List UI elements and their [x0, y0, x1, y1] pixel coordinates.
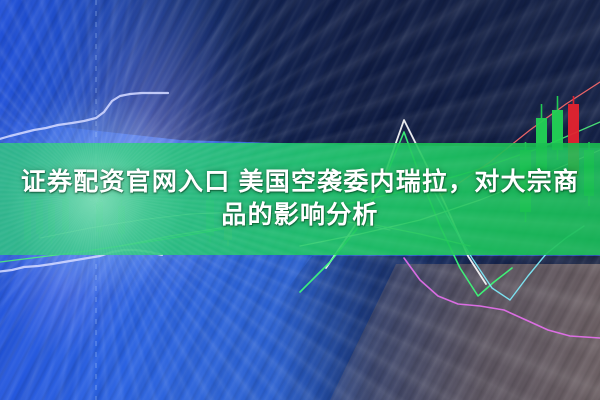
- headline-line-1: 证券配资官网入口 美国空袭委内瑞拉，对大宗商: [21, 168, 579, 198]
- headline-block: 证券配资官网入口 美国空袭委内瑞拉，对大宗商 品的影响分析: [0, 143, 600, 255]
- upper-left-step-line: [0, 93, 168, 140]
- banner-image: 证券配资官网入口 美国空袭委内瑞拉，对大宗商 品的影响分析: [0, 0, 600, 400]
- headline-line-2: 品的影响分析: [221, 201, 378, 231]
- magenta-curve: [404, 258, 600, 338]
